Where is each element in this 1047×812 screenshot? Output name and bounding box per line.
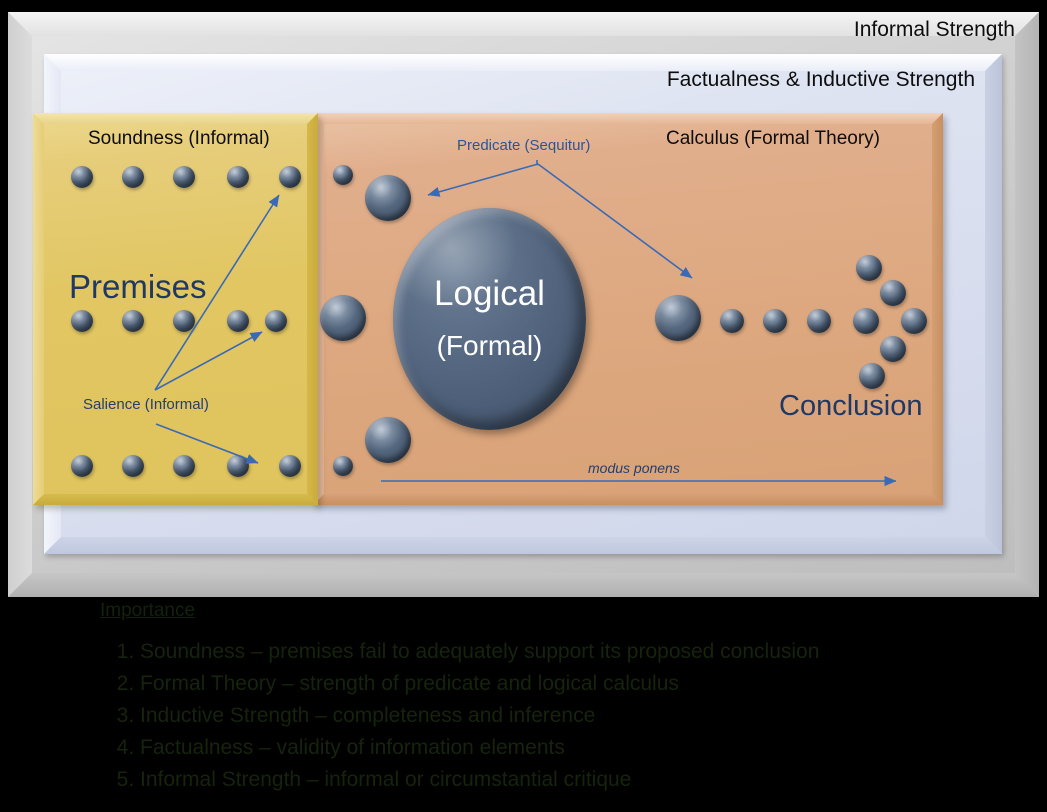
formal-sphere xyxy=(365,417,411,463)
formal-sphere xyxy=(856,255,882,281)
premise-sphere xyxy=(71,166,93,188)
formal-sphere xyxy=(320,295,366,341)
importance-list-item: Informal Strength – informal or circumst… xyxy=(140,764,1000,796)
logical-circle-line2: (Formal) xyxy=(437,330,543,362)
premise-sphere xyxy=(279,455,301,477)
premise-sphere xyxy=(265,310,287,332)
formal-sphere xyxy=(655,295,701,341)
logical-circle-line1: Logical xyxy=(434,276,545,313)
importance-list-item: Soundness – premises fail to adequately … xyxy=(140,636,1000,668)
factualness-inductive-strength-label: Factualness & Inductive Strength xyxy=(667,68,975,92)
outer-frame-bevel-bottom xyxy=(8,573,1039,597)
formal-sphere xyxy=(880,280,906,306)
premise-sphere xyxy=(279,166,301,188)
formal-sphere xyxy=(880,336,906,362)
formal-sphere xyxy=(333,456,353,476)
premise-sphere xyxy=(122,455,144,477)
formal-sphere xyxy=(763,309,787,333)
premises-label: Premises xyxy=(69,268,207,306)
premise-sphere xyxy=(71,310,93,332)
premise-sphere xyxy=(173,455,195,477)
middle-frame-bevel-bottom xyxy=(44,537,1002,554)
formal-panel-bevel-right xyxy=(932,113,943,505)
importance-heading: Importance xyxy=(100,600,1000,622)
soundness-informal-label: Soundness (Informal) xyxy=(88,128,270,150)
premise-sphere xyxy=(173,310,195,332)
formal-panel-bevel-top xyxy=(313,113,943,124)
logical-formal-circle: Logical (Formal) xyxy=(393,208,586,430)
premise-sphere xyxy=(122,310,144,332)
calculus-formal-theory-label: Calculus (Formal Theory) xyxy=(666,128,880,150)
predicate-sequitur-label: Predicate (Sequitur) xyxy=(457,137,590,154)
premise-sphere xyxy=(71,455,93,477)
importance-list-item: Formal Theory – strength of predicate an… xyxy=(140,668,1000,700)
formal-sphere xyxy=(720,309,744,333)
outer-frame-bevel-left xyxy=(8,12,32,597)
outer-frame-bevel-right xyxy=(1015,12,1039,597)
premise-sphere xyxy=(227,166,249,188)
modus-ponens-label: modus ponens xyxy=(588,460,680,476)
formal-sphere xyxy=(365,175,411,221)
importance-list-item: Factualness – validity of information el… xyxy=(140,732,1000,764)
premises-panel-bevel-left xyxy=(33,113,44,505)
formal-panel-bevel-bottom xyxy=(313,494,943,505)
informal-strength-label: Informal Strength xyxy=(854,18,1015,42)
premise-sphere xyxy=(122,166,144,188)
importance-list: Soundness – premises fail to adequately … xyxy=(100,636,1000,796)
importance-list-item: Inductive Strength – completeness and in… xyxy=(140,700,1000,732)
formal-sphere xyxy=(333,165,353,185)
formal-sphere xyxy=(807,309,831,333)
salience-informal-label: Salience (Informal) xyxy=(83,396,209,413)
premises-panel-bevel-top xyxy=(33,113,318,124)
premise-sphere xyxy=(227,455,249,477)
premise-sphere xyxy=(227,310,249,332)
importance-notes: Importance Soundness – premises fail to … xyxy=(100,600,1000,796)
premises-panel-bevel-bottom xyxy=(33,494,318,505)
formal-sphere xyxy=(859,363,885,389)
conclusion-label: Conclusion xyxy=(779,390,922,423)
formal-sphere xyxy=(901,308,927,334)
premises-panel-bevel-right xyxy=(307,113,318,505)
formal-sphere xyxy=(853,308,879,334)
middle-frame-bevel-right xyxy=(985,54,1002,554)
premise-sphere xyxy=(173,166,195,188)
